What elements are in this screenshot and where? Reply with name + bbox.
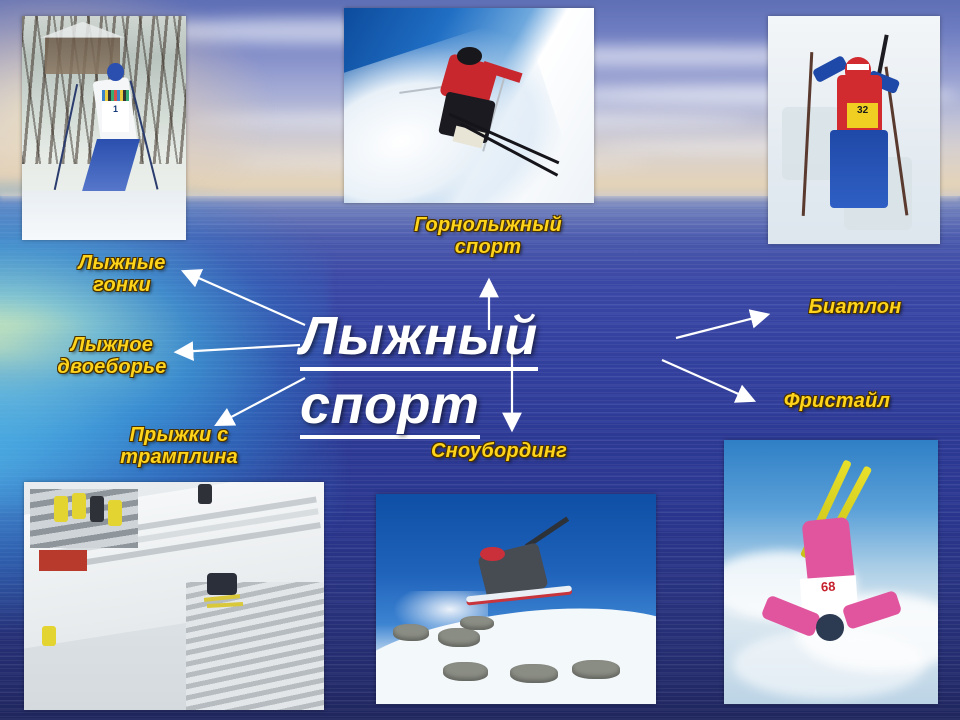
athlete-helmet bbox=[845, 57, 871, 82]
rock bbox=[443, 662, 488, 681]
photo-snowboarder bbox=[376, 494, 656, 704]
photo-freestyle-aerialist: 68 bbox=[724, 440, 938, 704]
page-title-line1: Лыжный bbox=[300, 308, 538, 371]
label-alpine-line2: спорт bbox=[382, 236, 594, 258]
rock bbox=[510, 664, 558, 683]
label-biathlon: Биатлон bbox=[772, 296, 938, 318]
rock bbox=[438, 628, 480, 647]
spectator bbox=[54, 496, 68, 522]
label-alpine-line1: Горнолыжный bbox=[382, 214, 594, 236]
photo-ski-jumper bbox=[24, 482, 324, 710]
label-cross-country: Лыжные гонки bbox=[42, 252, 202, 297]
label-freestyle: Фристайл bbox=[748, 390, 926, 412]
rock bbox=[572, 660, 620, 679]
jumper-body bbox=[207, 573, 237, 595]
page-title: Лыжный спорт bbox=[300, 308, 600, 445]
snow-ground bbox=[22, 191, 186, 240]
spectator bbox=[42, 626, 56, 646]
rock bbox=[460, 616, 494, 631]
label-nordic-combined-line2: двоеборье bbox=[26, 356, 198, 378]
skier-helmet bbox=[107, 63, 123, 81]
photo-alpine-skier bbox=[344, 8, 594, 203]
photo-cross-country-skier: 1 bbox=[22, 16, 186, 240]
label-nordic-combined: Лыжное двоеборье bbox=[26, 334, 198, 379]
label-freestyle-text: Фристайл bbox=[748, 390, 926, 412]
athlete-helmet bbox=[816, 614, 844, 640]
spectator bbox=[198, 484, 212, 504]
label-cross-country-line1: Лыжные bbox=[42, 252, 202, 274]
rock bbox=[393, 624, 429, 641]
spectator bbox=[90, 496, 104, 522]
label-nordic-combined-line1: Лыжное bbox=[26, 334, 198, 356]
label-alpine: Горнолыжный спорт bbox=[382, 214, 594, 259]
spectator bbox=[108, 500, 122, 526]
label-ski-jumping-line2: трамплина bbox=[84, 446, 274, 468]
bib-number: 32 bbox=[847, 103, 878, 128]
rider-hat bbox=[480, 547, 505, 562]
label-biathlon-text: Биатлон bbox=[772, 296, 938, 318]
skier-helmet bbox=[457, 47, 482, 65]
bib-number: 1 bbox=[102, 101, 128, 132]
athlete-legs bbox=[830, 130, 888, 208]
label-ski-jumping: Прыжки с трамплина bbox=[84, 424, 274, 469]
label-cross-country-line2: гонки bbox=[42, 274, 202, 296]
page-title-line2: спорт bbox=[300, 377, 480, 440]
spectator bbox=[72, 493, 86, 519]
presentation-slide: 1 bbox=[0, 0, 960, 720]
label-ski-jumping-line1: Прыжки с bbox=[84, 424, 274, 446]
red-sign bbox=[39, 550, 87, 571]
photo-biathlete: 32 bbox=[768, 16, 940, 244]
